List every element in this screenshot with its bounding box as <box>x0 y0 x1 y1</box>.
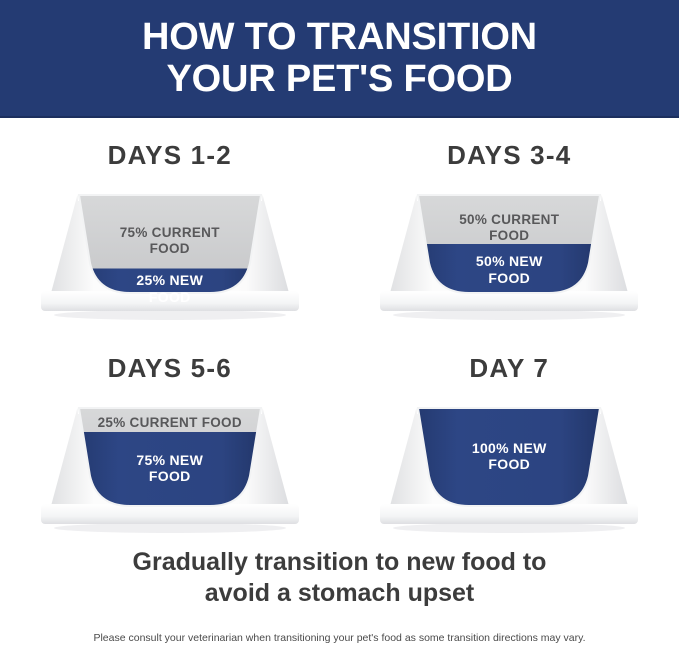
food-bowl-illustration: 100% NEW FOOD <box>366 394 652 534</box>
infographic-header: HOW TO TRANSITION YOUR PET'S FOOD <box>0 0 679 118</box>
transition-stage-grid: DAYS 1-2 <box>0 118 679 543</box>
bowl-svg <box>27 394 313 534</box>
stage-card-day-7: DAY 7 <box>340 331 679 544</box>
footer-tagline-line1: Gradually transition to new food to <box>133 547 547 578</box>
header-title-line1: HOW TO TRANSITION <box>142 16 537 58</box>
footer-tagline: Gradually transition to new food to avoi… <box>133 547 547 609</box>
stage-title: DAYS 3-4 <box>447 140 571 171</box>
bowl-shadow <box>54 523 286 533</box>
stage-card-days-3-4: DAYS 3-4 <box>340 118 679 331</box>
bowl-svg <box>27 181 313 321</box>
food-bowl-illustration: 75% CURRENT FOOD 25% NEW FOOD <box>27 181 313 321</box>
stage-title: DAY 7 <box>469 353 549 384</box>
food-bowl-illustration: 50% CURRENT FOOD 50% NEW FOOD <box>366 181 652 321</box>
stage-title: DAYS 5-6 <box>108 353 232 384</box>
infographic-footer: Gradually transition to new food to avoi… <box>0 543 679 645</box>
bowl-shadow <box>393 523 625 533</box>
bowl-shadow <box>54 310 286 320</box>
bowl-shadow <box>393 310 625 320</box>
stage-card-days-5-6: DAYS 5-6 <box>0 331 340 544</box>
header-title-line2: YOUR PET'S FOOD <box>167 58 513 100</box>
stage-card-days-1-2: DAYS 1-2 <box>0 118 340 331</box>
bowl-svg <box>366 181 652 321</box>
bowl-svg <box>366 394 652 534</box>
food-bowl-illustration: 25% CURRENT FOOD 75% NEW FOOD <box>27 394 313 534</box>
footer-tagline-line2: avoid a stomach upset <box>133 578 547 609</box>
footer-disclaimer: Please consult your veterinarian when tr… <box>93 631 585 645</box>
stage-title: DAYS 1-2 <box>108 140 232 171</box>
